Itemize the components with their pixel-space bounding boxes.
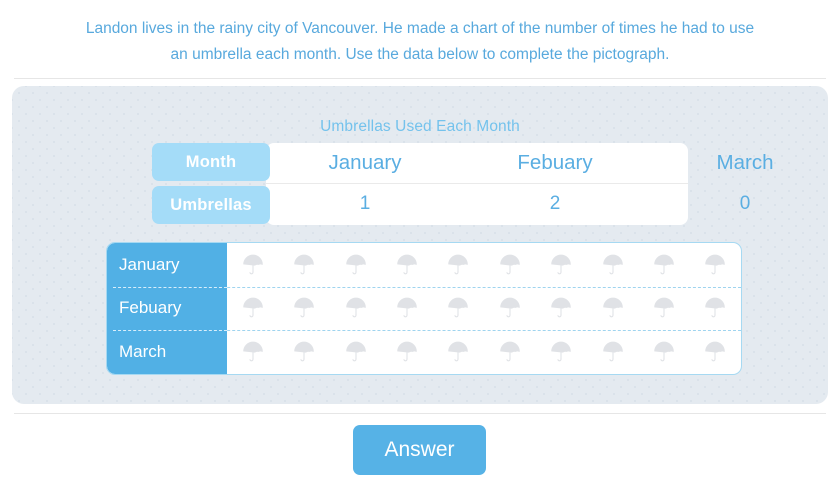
pictograph-slot[interactable]	[330, 339, 381, 365]
umbrella-icon	[497, 252, 523, 278]
pictograph-slot[interactable]	[278, 339, 329, 365]
umbrella-icon	[291, 339, 317, 365]
umbrella-icon	[445, 339, 471, 365]
umbrella-icon	[394, 339, 420, 365]
pictograph-slots-march[interactable]	[227, 330, 741, 374]
pictograph-slot[interactable]	[535, 339, 586, 365]
pictograph-slots-febuary[interactable]	[227, 287, 741, 331]
table-value-row: 1 2 0	[270, 184, 840, 224]
prompt-line-2: an umbrella each month. Use the data bel…	[30, 42, 810, 68]
umbrella-icon	[600, 339, 626, 365]
pictograph-slot[interactable]	[278, 295, 329, 321]
pictograph-row-label-march: March	[107, 330, 227, 374]
pictograph-slots-january[interactable]	[227, 243, 741, 287]
umbrella-icon	[240, 252, 266, 278]
pictograph-slot[interactable]	[227, 339, 278, 365]
pictograph-slot[interactable]	[381, 295, 432, 321]
umbrella-icon	[497, 339, 523, 365]
pictograph-slot[interactable]	[484, 252, 535, 278]
pictograph-slot[interactable]	[381, 252, 432, 278]
umbrella-icon	[702, 252, 728, 278]
pictograph-slot[interactable]	[587, 295, 638, 321]
pictograph-slot[interactable]	[433, 339, 484, 365]
table-cell-value-march: 0	[650, 184, 840, 224]
umbrella-icon	[343, 295, 369, 321]
pictograph-slot[interactable]	[638, 339, 689, 365]
pictograph-row-label-febuary: Febuary	[107, 287, 227, 331]
pictograph-slot[interactable]	[484, 295, 535, 321]
pictograph-slot[interactable]	[330, 252, 381, 278]
umbrella-icon	[702, 339, 728, 365]
umbrella-icon	[394, 252, 420, 278]
pictograph-row-label-january: January	[107, 243, 227, 287]
umbrella-icon	[291, 295, 317, 321]
pictograph-slot[interactable]	[690, 252, 741, 278]
question-prompt: Landon lives in the rainy city of Vancou…	[0, 16, 840, 68]
pictograph[interactable]: January Febuary March	[106, 242, 742, 375]
table-cell-month-january: January	[270, 143, 460, 183]
answer-button[interactable]: Answer	[353, 425, 486, 475]
umbrella-icon	[445, 295, 471, 321]
table-cell-value-febuary: 2	[460, 184, 650, 224]
pictograph-row[interactable]: January	[107, 243, 741, 287]
umbrella-icon	[548, 295, 574, 321]
umbrella-icon	[651, 339, 677, 365]
data-table: Month Umbrellas January Febuary March 1 …	[152, 143, 688, 225]
pictograph-slot[interactable]	[638, 295, 689, 321]
table-cell-value-january: 1	[270, 184, 460, 224]
umbrella-icon	[548, 252, 574, 278]
pictograph-slot[interactable]	[535, 252, 586, 278]
umbrella-icon	[240, 339, 266, 365]
umbrella-icon	[651, 252, 677, 278]
pictograph-slot[interactable]	[587, 252, 638, 278]
umbrella-icon	[651, 295, 677, 321]
umbrella-icon	[600, 295, 626, 321]
pictograph-slot[interactable]	[330, 295, 381, 321]
umbrella-icon	[291, 252, 317, 278]
umbrella-icon	[343, 339, 369, 365]
pictograph-slot[interactable]	[638, 252, 689, 278]
pictograph-row[interactable]: Febuary	[107, 287, 741, 331]
umbrella-icon	[497, 295, 523, 321]
pictograph-slot[interactable]	[690, 339, 741, 365]
pictograph-slot[interactable]	[433, 252, 484, 278]
table-cell-month-febuary: Febuary	[460, 143, 650, 183]
umbrella-icon	[240, 295, 266, 321]
pictograph-row[interactable]: March	[107, 330, 741, 374]
pictograph-slot[interactable]	[587, 339, 638, 365]
table-title: Umbrellas Used Each Month	[152, 118, 688, 136]
pictograph-slot[interactable]	[227, 295, 278, 321]
pictograph-slot[interactable]	[227, 252, 278, 278]
umbrella-icon	[343, 252, 369, 278]
pictograph-slot[interactable]	[278, 252, 329, 278]
umbrella-icon	[600, 252, 626, 278]
table-row-header-umbrellas: Umbrellas	[152, 186, 270, 224]
pictograph-slot[interactable]	[433, 295, 484, 321]
table-row-header-month: Month	[152, 143, 270, 181]
umbrella-icon	[394, 295, 420, 321]
umbrella-icon	[445, 252, 471, 278]
table-cell-month-march: March	[650, 143, 840, 183]
pictograph-slot[interactable]	[484, 339, 535, 365]
divider-bottom	[14, 413, 826, 414]
table-month-row: January Febuary March	[270, 143, 840, 183]
prompt-line-1: Landon lives in the rainy city of Vancou…	[30, 16, 810, 42]
divider-top	[14, 78, 826, 79]
umbrella-icon	[548, 339, 574, 365]
umbrella-icon	[702, 295, 728, 321]
pictograph-slot[interactable]	[535, 295, 586, 321]
pictograph-slot[interactable]	[690, 295, 741, 321]
pictograph-slot[interactable]	[381, 339, 432, 365]
